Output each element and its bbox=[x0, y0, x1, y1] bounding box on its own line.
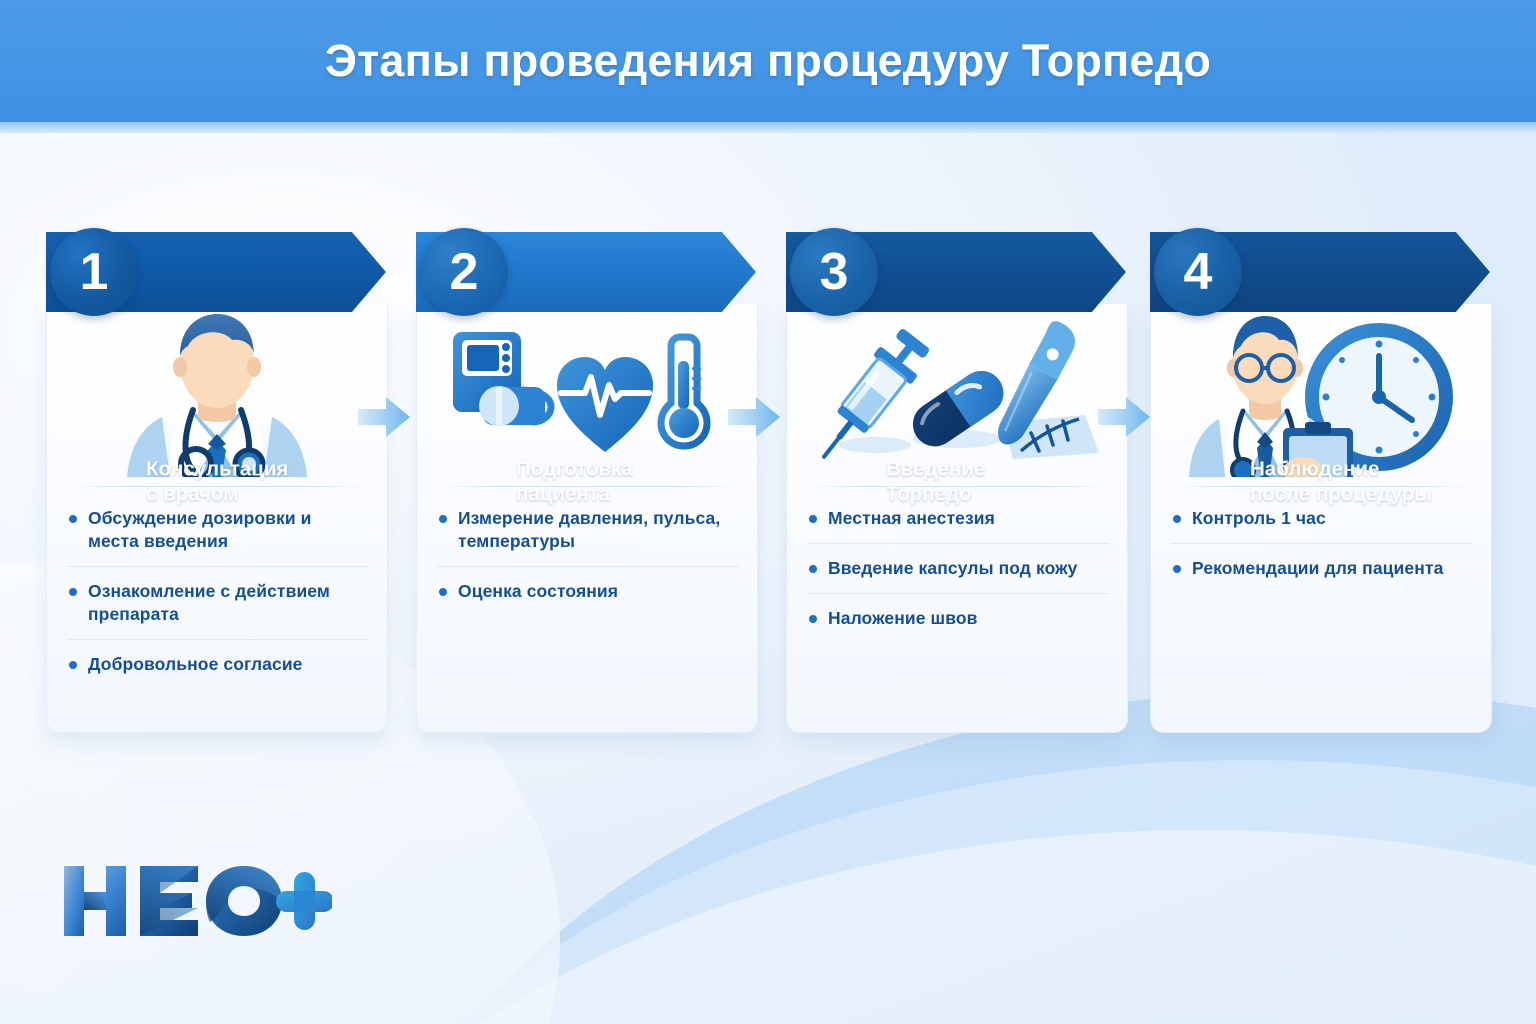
list-item: Оценка состояния bbox=[437, 567, 739, 616]
page-title: Этапы проведения процедуру Торпедо bbox=[325, 35, 1211, 87]
step-title-line-2: с врачом bbox=[146, 482, 366, 507]
step-card-4[interactable]: Контроль 1 час Рекомендации для пациента… bbox=[1150, 232, 1490, 732]
bullet-text: Обсуждение дозировки и места введения bbox=[88, 507, 365, 553]
bullet-dot-icon bbox=[809, 515, 817, 523]
step-card-2[interactable]: Измерение давления, пульса, температуры … bbox=[416, 232, 756, 732]
step-3-title: Введение Торпедо bbox=[886, 457, 1106, 508]
bullet-text: Введение капсулы под кожу bbox=[828, 557, 1078, 580]
bullet-text: Местная анестезия bbox=[828, 507, 995, 530]
brand-logo[interactable] bbox=[62, 862, 332, 940]
arrow-right-icon bbox=[726, 395, 782, 439]
arrow-3-to-4 bbox=[1096, 395, 1152, 439]
step-4-title: Наблюдение после процедуры bbox=[1250, 457, 1470, 508]
header-accent-stripe bbox=[0, 122, 1536, 133]
step-4-bullet-list: Контроль 1 час Рекомендации для пациента bbox=[1171, 494, 1473, 593]
step-title-line-1: Введение bbox=[886, 457, 1106, 482]
bullet-dot-icon bbox=[439, 515, 447, 523]
arrow-1-to-2 bbox=[356, 395, 412, 439]
bullet-dot-icon bbox=[69, 588, 77, 596]
syringe-capsule-scalpel-icon bbox=[807, 319, 1107, 469]
bullet-dot-icon bbox=[69, 661, 77, 669]
bullet-text: Наложение швов bbox=[828, 607, 978, 630]
arrow-right-icon bbox=[1096, 395, 1152, 439]
bullet-dot-icon bbox=[1173, 565, 1181, 573]
list-item: Ознакомление с действием препарата bbox=[67, 567, 369, 640]
bullet-text: Контроль 1 час bbox=[1192, 507, 1326, 530]
step-2-title: Подготовка пациента bbox=[516, 457, 736, 508]
bullet-text: Оценка состояния bbox=[458, 580, 618, 603]
steps-row: Обсуждение дозировки и места введения Оз… bbox=[0, 232, 1536, 737]
step-2-bullet-list: Измерение давления, пульса, температуры … bbox=[437, 494, 739, 616]
step-1-title: Консультация с врачом bbox=[146, 457, 366, 508]
step-card-3-body: Местная анестезия Введение капсулы под к… bbox=[786, 304, 1128, 733]
step-title-line-1: Подготовка bbox=[516, 457, 736, 482]
bullet-dot-icon bbox=[1173, 515, 1181, 523]
step-title-line-1: Консультация bbox=[146, 457, 366, 482]
step-1-number-badge: 1 bbox=[50, 228, 138, 316]
step-3-bullet-list: Местная анестезия Введение капсулы под к… bbox=[807, 494, 1109, 643]
step-number: 4 bbox=[1184, 246, 1213, 298]
step-4-number-badge: 4 bbox=[1154, 228, 1242, 316]
step-1-bullet-list: Обсуждение дозировки и места введения Оз… bbox=[67, 494, 369, 689]
bullet-text: Рекомендации для пациента bbox=[1192, 557, 1443, 580]
arrow-right-icon bbox=[356, 395, 412, 439]
list-item: Добровольное согласие bbox=[67, 640, 369, 689]
step-2-number-badge: 2 bbox=[420, 228, 508, 316]
step-card-1-body: Обсуждение дозировки и места введения Оз… bbox=[46, 304, 388, 733]
step-card-3[interactable]: Местная анестезия Введение капсулы под к… bbox=[786, 232, 1126, 732]
step-card-1[interactable]: Обсуждение дозировки и места введения Оз… bbox=[46, 232, 386, 732]
step-number: 1 bbox=[80, 246, 109, 298]
bullet-dot-icon bbox=[809, 565, 817, 573]
step-number: 3 bbox=[820, 246, 849, 298]
blood-pressure-heart-thermometer-icon bbox=[445, 327, 730, 462]
bullet-dot-icon bbox=[69, 515, 77, 523]
bullet-text: Измерение давления, пульса, температуры bbox=[458, 507, 735, 553]
list-item: Введение капсулы под кожу bbox=[807, 544, 1109, 594]
bullet-text: Ознакомление с действием препарата bbox=[88, 580, 365, 626]
bullet-dot-icon bbox=[809, 615, 817, 623]
arrow-2-to-3 bbox=[726, 395, 782, 439]
list-item: Наложение швов bbox=[807, 594, 1109, 643]
step-title-line-2: пациента bbox=[516, 482, 736, 507]
neo-plus-logo-icon bbox=[62, 862, 332, 940]
infographic-canvas: Этапы проведения процедуру Торпедо bbox=[0, 0, 1536, 1024]
bullet-dot-icon bbox=[439, 588, 447, 596]
step-card-4-body: Контроль 1 час Рекомендации для пациента bbox=[1150, 304, 1492, 733]
step-title-line-1: Наблюдение bbox=[1250, 457, 1470, 482]
step-3-number-badge: 3 bbox=[790, 228, 878, 316]
list-item: Рекомендации для пациента bbox=[1171, 544, 1473, 593]
step-title-line-2: после процедуры bbox=[1250, 482, 1470, 507]
doctor-stethoscope-icon bbox=[92, 312, 342, 477]
page-header: Этапы проведения процедуру Торпедо bbox=[0, 0, 1536, 122]
step-card-2-body: Измерение давления, пульса, температуры … bbox=[416, 304, 758, 733]
doctor-clipboard-clock-icon bbox=[1171, 312, 1471, 477]
step-number: 2 bbox=[450, 246, 479, 298]
step-title-line-2: Торпедо bbox=[886, 482, 1106, 507]
bullet-text: Добровольное согласие bbox=[88, 653, 303, 676]
